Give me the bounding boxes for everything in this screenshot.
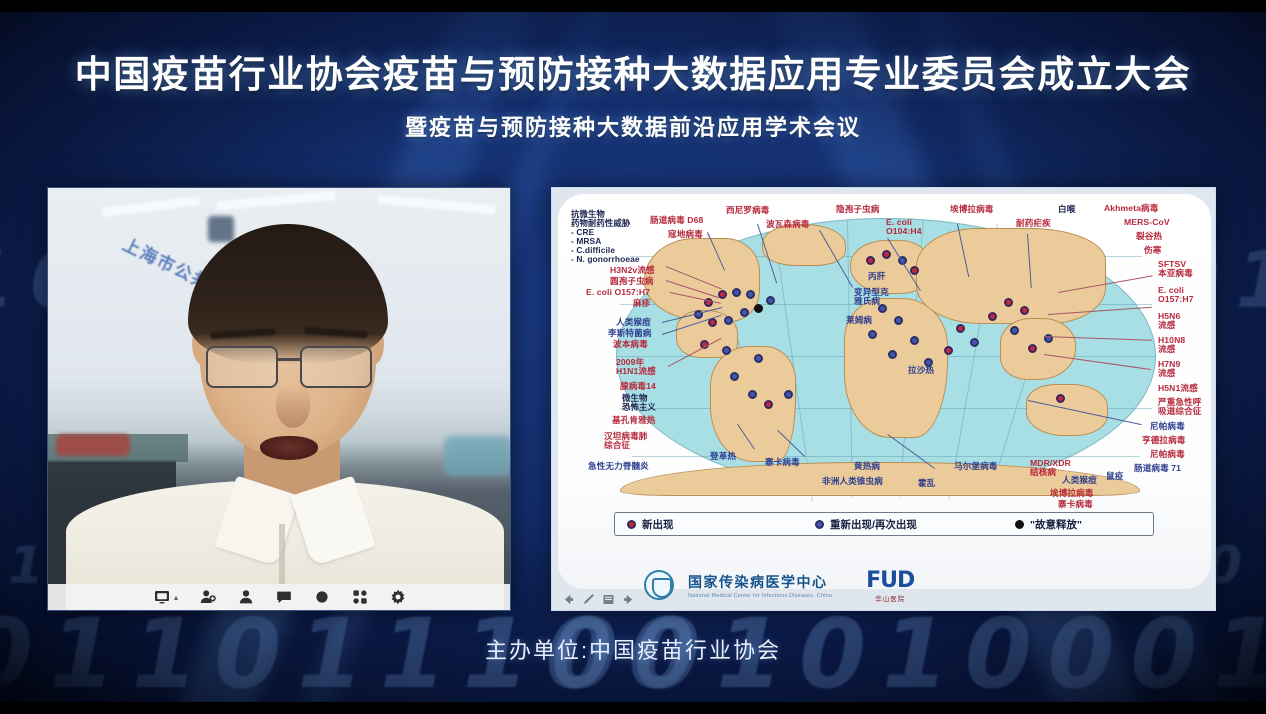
page-title: 中国疫苗行业协会疫苗与预防接种大数据应用专业委员会成立大会 [0, 44, 1266, 98]
legend-dot-new [627, 520, 636, 529]
map-label: 耐药疟疾 [1016, 219, 1051, 228]
map-label: E. coli O157:H7 [586, 288, 650, 297]
map-label: 亨德拉病毒 [1142, 436, 1185, 445]
background-object-teal [444, 436, 511, 476]
map-label: 波瓦森病毒 [766, 220, 809, 229]
legend-label-deliberate: "故意释放" [1030, 517, 1082, 532]
marker-outbreak-new [882, 250, 891, 259]
glasses-lens-right [300, 346, 372, 388]
map-label: 隐孢子虫病 [836, 205, 879, 214]
map-label: 鼠疫 [1106, 472, 1123, 481]
map-label: 西尼罗病毒 [726, 206, 769, 215]
record-icon[interactable] [314, 589, 330, 605]
marker-outbreak-reemerging [1010, 326, 1019, 335]
map-label: 肠道病毒 D68 [650, 216, 703, 225]
next-slide-icon[interactable] [622, 593, 635, 606]
map-label: 白喉 [1058, 205, 1075, 214]
landmass-south-america [710, 346, 796, 462]
marker-outbreak-new [764, 400, 773, 409]
marker-outbreak-reemerging [766, 296, 775, 305]
map-label: 埃博拉病毒 [1050, 489, 1093, 498]
page-subtitle: 暨疫苗与预防接种大数据前沿应用学术会议 [0, 110, 1266, 142]
map-label: 非洲人类锥虫病 [822, 477, 883, 486]
map-label: 登革热 [710, 452, 736, 461]
apps-grid-icon[interactable] [352, 589, 368, 605]
map-label: SFTSV本亚病毒 [1158, 260, 1193, 279]
speaker-video-panel[interactable]: 上海市公共 [47, 187, 511, 611]
map-label: E. coliO104:H4 [886, 218, 922, 237]
map-label: 黄热病 [854, 462, 880, 471]
landmass-asia [916, 228, 1106, 324]
slide-logos: 国家传染病医学中心 National Medical Center for In… [558, 564, 1211, 606]
marker-outbreak-reemerging [746, 290, 755, 299]
map-label: 肠道病毒 71 [1134, 464, 1181, 473]
legend-label-reemerging: 重新出现/再次出现 [830, 517, 917, 532]
add-participant-icon[interactable] [200, 589, 216, 605]
marker-outbreak-new [866, 256, 875, 265]
map-label: H5N1流感 [1158, 384, 1198, 393]
chevron-up-icon[interactable]: ▴ [174, 593, 178, 602]
marker-outbreak-new [988, 312, 997, 321]
map-label: 波本病毒 [613, 340, 648, 349]
huashan-logo-mark: FUD [866, 568, 914, 593]
speaker-hair [188, 224, 388, 364]
nmcid-logo-en: National Medical Center for Infectious D… [688, 593, 832, 599]
ceiling-fixture [208, 216, 234, 242]
marker-outbreak-reemerging [868, 330, 877, 339]
map-label: 急性无力脊髓炎 [588, 462, 649, 471]
map-label: 李斯特菌病 [608, 329, 651, 338]
marker-outbreak-new [718, 290, 727, 299]
map-label: 霍乱 [918, 479, 935, 488]
ceiling-light [102, 196, 200, 217]
marker-outbreak-new [1056, 394, 1065, 403]
map-label: Akhmeta病毒 [1104, 204, 1158, 213]
huashan-logo-sub: 华山医院 [866, 593, 914, 603]
map-label: H5N6流感 [1158, 312, 1180, 331]
presentation-stage: 10110100 01001101 1011001 0100110 011011… [0, 0, 1266, 714]
map-label: 抗微生物药物耐药性威胁- CRE- MRSA- C.difficile- N. … [571, 210, 640, 264]
marker-outbreak-new [1028, 344, 1037, 353]
landmass-greenland [762, 224, 846, 266]
share-screen-icon[interactable] [154, 589, 170, 605]
map-label: 基孔肯雅热 [612, 416, 655, 425]
map-label: 严重急性呼吸道综合征 [1158, 398, 1201, 417]
pen-annotate-icon[interactable] [582, 593, 595, 606]
ceiling-light [378, 195, 496, 214]
map-label: 人类猴痘 [1062, 476, 1097, 485]
legend-item-deliberate: "故意释放" [1015, 517, 1082, 532]
map-label: 变异型克雅氏病 [854, 288, 889, 307]
map-label: 拉沙热 [908, 366, 934, 375]
map-label: E. coliO157:H7 [1158, 286, 1194, 305]
marker-outbreak-reemerging [888, 350, 897, 359]
nmcid-logo-cn: 国家传染病医学中心 [688, 572, 832, 592]
map-legend: 新出现 重新出现/再次出现 "故意释放" [614, 512, 1154, 536]
marker-outbreak-reemerging [784, 390, 793, 399]
speaker-mouth [260, 436, 318, 460]
map-label: 寇地病毒 [668, 230, 703, 239]
marker-outbreak-reemerging [910, 336, 919, 345]
legend-dot-reemerging [815, 520, 824, 529]
slide-navigation-controls[interactable] [562, 593, 635, 606]
organizer-label: 主办单位:中国疫苗行业协会 [0, 633, 1266, 665]
map-label: 马尔堡病毒 [954, 462, 997, 471]
marker-outbreak-new [956, 324, 965, 333]
slide-menu-icon[interactable] [602, 593, 615, 606]
map-label: 寨卡病毒 [765, 458, 800, 467]
background-object-red [56, 434, 130, 456]
map-label: 腺病毒14 [620, 382, 656, 391]
marker-outbreak-new [910, 266, 919, 275]
marker-outbreak-reemerging [732, 288, 741, 297]
participants-icon[interactable] [238, 589, 254, 605]
map-label: 寨卡病毒 [1058, 500, 1093, 509]
glasses-lens-left [206, 346, 278, 388]
marker-outbreak-reemerging [894, 316, 903, 325]
settings-gear-icon[interactable] [390, 589, 406, 605]
map-label: H10N8流感 [1158, 336, 1185, 355]
marker-outbreak-reemerging [722, 346, 731, 355]
video-toolbar[interactable]: ▴ [48, 584, 511, 610]
ceiling-light [216, 191, 336, 210]
marker-outbreak-reemerging [970, 338, 979, 347]
map-label: 汉坦病毒肺综合征 [604, 432, 647, 451]
marker-outbreak-deliberate [754, 304, 763, 313]
map-gridline [632, 456, 1140, 457]
slide-content: 抗微生物药物耐药性威胁- CRE- MRSA- C.difficile- N. … [558, 194, 1211, 589]
map-label: 裂谷热 [1136, 232, 1162, 241]
nmcid-emblem-icon [644, 570, 674, 600]
map-label: 微生物恐怖主义 [622, 394, 656, 412]
bottom-letterbox-band [0, 702, 1266, 714]
top-letterbox-band [0, 0, 1266, 12]
marker-outbreak-reemerging [754, 354, 763, 363]
map-label: 人类猴痘 [616, 318, 651, 327]
map-label: H7N9流感 [1158, 360, 1180, 379]
map-label: 圆孢子虫病 [610, 277, 653, 286]
map-label: H3N2v流感 [610, 266, 655, 275]
marker-outbreak-reemerging [740, 308, 749, 317]
legend-item-reemerging: 重新出现/再次出现 [815, 517, 1015, 532]
marker-outbreak-new [1004, 298, 1013, 307]
map-label: MERS-CoV [1124, 218, 1170, 227]
nmcid-logo-text: 国家传染病医学中心 National Medical Center for In… [688, 572, 832, 599]
map-label: 尼帕病毒 [1150, 422, 1185, 431]
map-label: 埃博拉病毒 [950, 205, 993, 214]
video-feed: 上海市公共 [48, 188, 510, 610]
marker-outbreak-reemerging [748, 390, 757, 399]
map-label: 莱姆病 [846, 316, 872, 325]
map-label: 伤寒 [1144, 246, 1161, 255]
marker-outbreak-reemerging [730, 372, 739, 381]
legend-dot-deliberate [1015, 520, 1024, 529]
map-label: 丙肝 [868, 272, 885, 281]
huashan-logo: FUD 华山医院 [866, 568, 914, 603]
legend-label-new: 新出现 [642, 517, 674, 532]
legend-item-new: 新出现 [615, 517, 815, 532]
glasses-bridge [278, 358, 302, 361]
shared-slide-panel[interactable]: 抗微生物药物耐药性威胁- CRE- MRSA- C.difficile- N. … [551, 187, 1216, 611]
map-label: 2009年H1N1流感 [616, 358, 656, 377]
map-label: 麻疹 [633, 299, 650, 308]
marker-outbreak-reemerging [724, 316, 733, 325]
marker-outbreak-new [944, 346, 953, 355]
speaker-glasses [204, 346, 376, 392]
marker-outbreak-new [1020, 306, 1029, 315]
chat-icon[interactable] [276, 589, 292, 605]
map-label: 尼帕病毒 [1150, 450, 1185, 459]
previous-slide-icon[interactable] [562, 593, 575, 606]
landmass-australia [1026, 384, 1108, 436]
